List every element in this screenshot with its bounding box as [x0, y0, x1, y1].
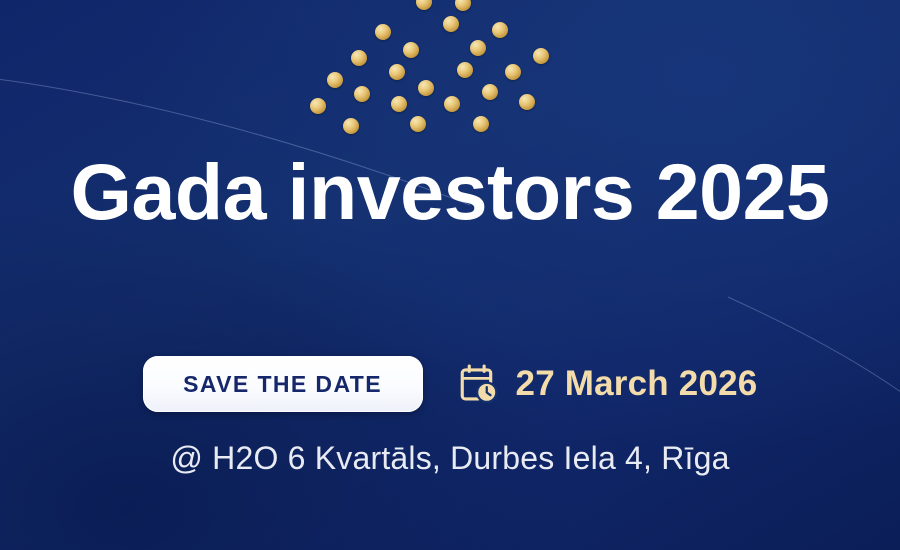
golden-dot	[482, 84, 498, 100]
golden-dot	[519, 94, 535, 110]
page-title: Gada investors 2025	[0, 152, 900, 231]
event-date-group: 27 March 2026	[457, 363, 758, 405]
golden-dot	[391, 96, 407, 112]
event-announcement-banner: Gada investors 2025 SAVE THE DATE 27 Mar…	[0, 0, 900, 550]
save-the-date-button[interactable]: SAVE THE DATE	[143, 356, 423, 412]
save-the-date-label: SAVE THE DATE	[183, 371, 382, 398]
golden-dot	[418, 80, 434, 96]
calendar-clock-icon	[457, 363, 499, 405]
golden-dot	[389, 64, 405, 80]
golden-dot	[533, 48, 549, 64]
golden-dot	[443, 16, 459, 32]
golden-dot	[343, 118, 359, 134]
golden-dot	[310, 98, 326, 114]
golden-dot	[351, 50, 367, 66]
golden-dot	[375, 24, 391, 40]
event-date: 27 March 2026	[516, 364, 758, 404]
golden-dot	[457, 62, 473, 78]
golden-dot-cluster	[0, 0, 900, 120]
cta-row: SAVE THE DATE 27 March 2026	[0, 355, 900, 413]
golden-dot	[327, 72, 343, 88]
golden-dot	[354, 86, 370, 102]
golden-dot	[403, 42, 419, 58]
golden-dot	[505, 64, 521, 80]
golden-dot	[473, 116, 489, 132]
event-venue: @ H2O 6 Kvartāls, Durbes Iela 4, Rīga	[0, 440, 900, 477]
golden-dot	[470, 40, 486, 56]
golden-dot	[410, 116, 426, 132]
golden-dot	[455, 0, 471, 11]
golden-dot	[416, 0, 432, 10]
golden-dot	[444, 96, 460, 112]
golden-dot	[492, 22, 508, 38]
